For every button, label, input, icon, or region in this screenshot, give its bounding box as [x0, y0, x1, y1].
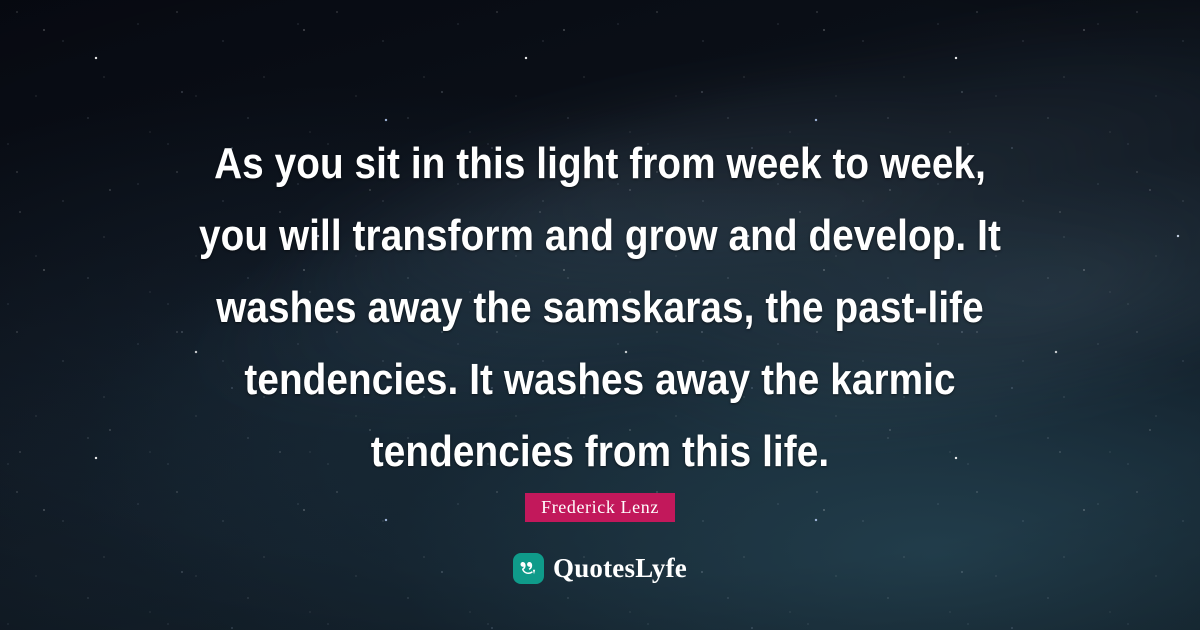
quote-line: washes away the samskaras, the past-life [134, 272, 1067, 344]
author-attribution: Frederick Lenz [0, 493, 1200, 522]
quote-line: you will transform and grow and develop.… [134, 200, 1067, 272]
quote-marks-icon [513, 553, 544, 584]
author-name-badge[interactable]: Frederick Lenz [525, 493, 675, 522]
quote-card: As you sit in this light from week to we… [0, 0, 1200, 630]
quote-text: As you sit in this light from week to we… [0, 128, 1200, 488]
brand-logo[interactable]: QuotesLyfe [0, 553, 1200, 584]
quote-line: As you sit in this light from week to we… [134, 128, 1067, 200]
quote-line: tendencies. It washes away the karmic [134, 344, 1067, 416]
quote-line: tendencies from this life. [134, 416, 1067, 488]
brand-name: QuotesLyfe [553, 555, 687, 582]
